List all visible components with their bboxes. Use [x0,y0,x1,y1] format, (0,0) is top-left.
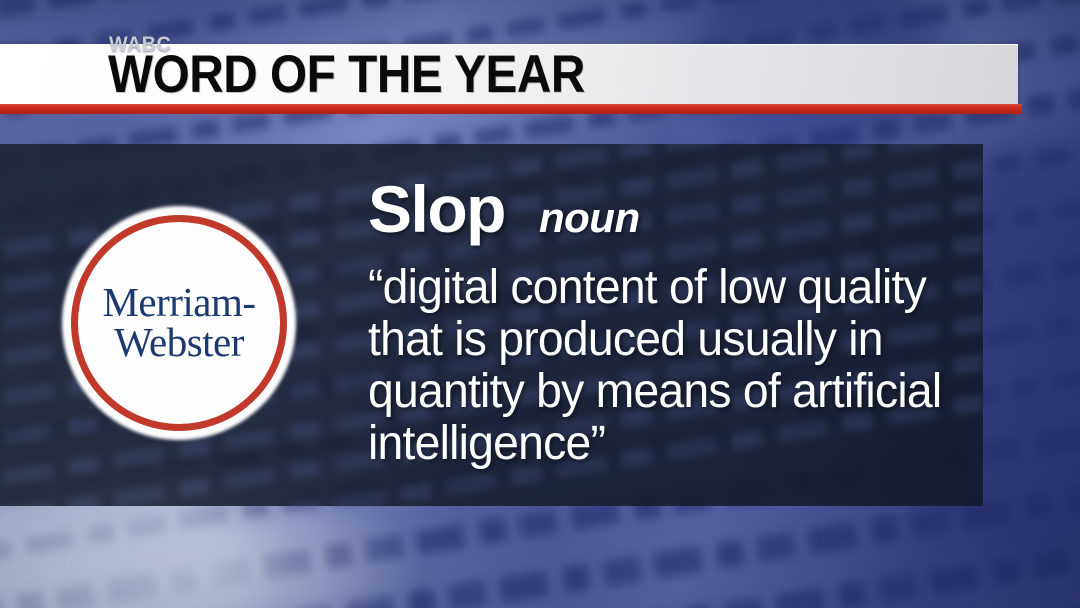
entry-word: Slop [368,176,505,242]
definition-line: that is produced usually in [368,314,947,366]
entry-definition: “digital content of low quality that is … [368,262,968,470]
logo-wordmark-line2: Webster [114,323,244,363]
entry-part-of-speech: noun [539,197,640,239]
page-title: WORD OF THE YEAR [108,45,585,103]
definition-line: intelligence” [368,418,947,470]
station-watermark: WABC [109,33,171,57]
headline-banner-red-stripe [0,104,1022,114]
dictionary-entry-heading: Slop noun [368,176,640,242]
definition-line: quantity by means of artificial [368,366,947,418]
merriam-webster-logo: Merriam- Webster [62,206,296,440]
definition-line: “digital content of low quality [368,262,947,314]
logo-wordmark-line1: Merriam- [102,283,255,323]
logo-wordmark: Merriam- Webster [62,206,296,440]
broadcast-graphic-frame: WORD OF THE YEAR WABC Merriam- Webster S… [0,0,1080,608]
